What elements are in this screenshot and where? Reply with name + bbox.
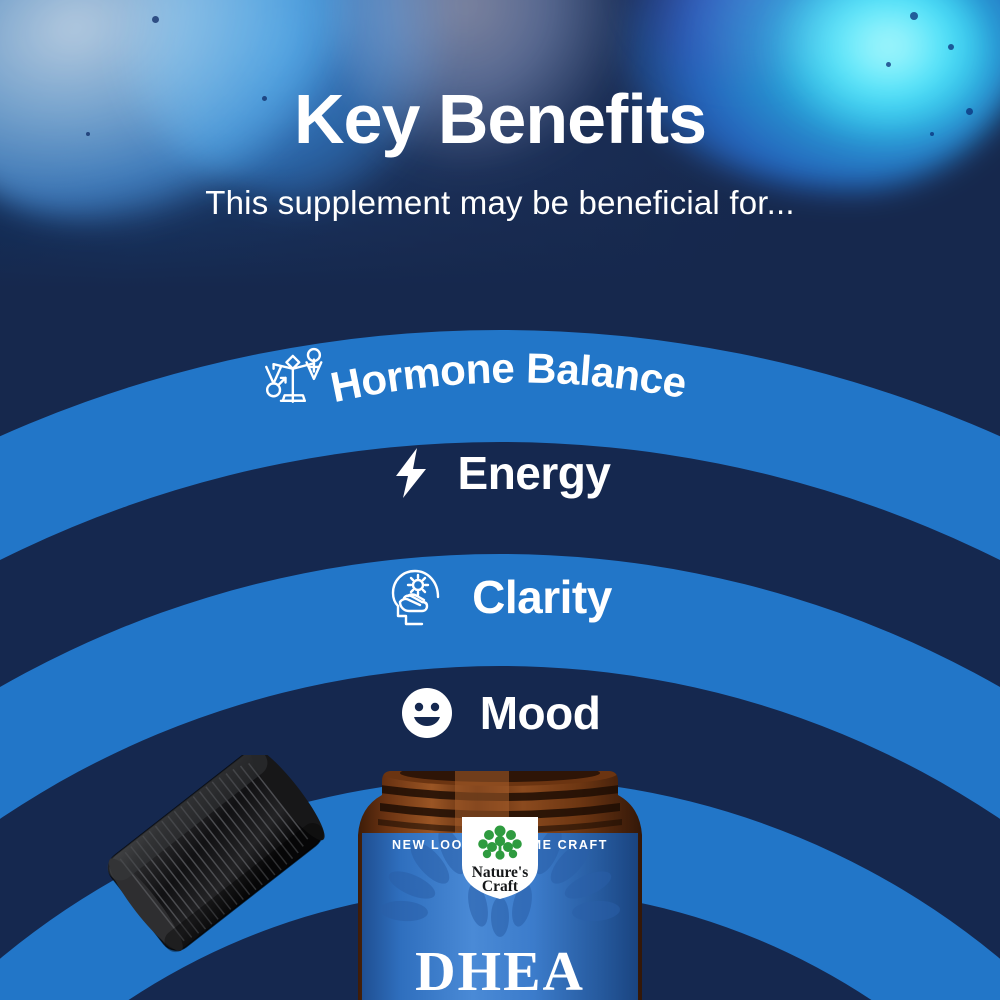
- brand-badge: Nature's Craft: [462, 817, 538, 899]
- benefit-label-energy: Energy: [458, 446, 611, 500]
- benefit-row-energy: Energy: [0, 446, 1000, 500]
- benefit-label-clarity: Clarity: [472, 570, 612, 624]
- black-ribbed-bottle-cap: [101, 755, 333, 958]
- balance-scale-gender-icon: [266, 349, 321, 402]
- lightning-bolt-icon: [390, 446, 432, 500]
- bottle-graphic: NEW LOOK SAME CRAFT: [0, 755, 1000, 1000]
- benefit-label-hormone-balance: Hormone Balance: [327, 344, 690, 411]
- product-name: DHEA: [415, 941, 585, 1000]
- head-hand-sun-icon: [388, 566, 446, 628]
- benefit-row-hormone-balance: Hormone Balance: [0, 322, 1000, 432]
- svg-text:Hormone Balance: Hormone Balance: [327, 344, 690, 411]
- hormone-balance-curved-text: Hormone Balance: [0, 322, 1000, 432]
- benefit-row-mood: Mood: [0, 686, 1000, 740]
- benefit-row-clarity: Clarity: [0, 566, 1000, 628]
- page-title: Key Benefits: [0, 84, 1000, 154]
- page-subtitle: This supplement may be beneficial for...: [0, 186, 1000, 219]
- product-bottle-area: NEW LOOK SAME CRAFT: [0, 755, 1000, 1000]
- key-benefits-infographic: Key Benefits This supplement may be bene…: [0, 0, 1000, 1000]
- benefit-label-mood: Mood: [480, 686, 601, 740]
- brand-name-line2: Craft: [482, 878, 519, 895]
- smiley-face-icon: [400, 686, 454, 740]
- label-tagline-left: NEW LOOK: [392, 838, 474, 852]
- bottle-label: NEW LOOK SAME CRAFT: [362, 817, 638, 1000]
